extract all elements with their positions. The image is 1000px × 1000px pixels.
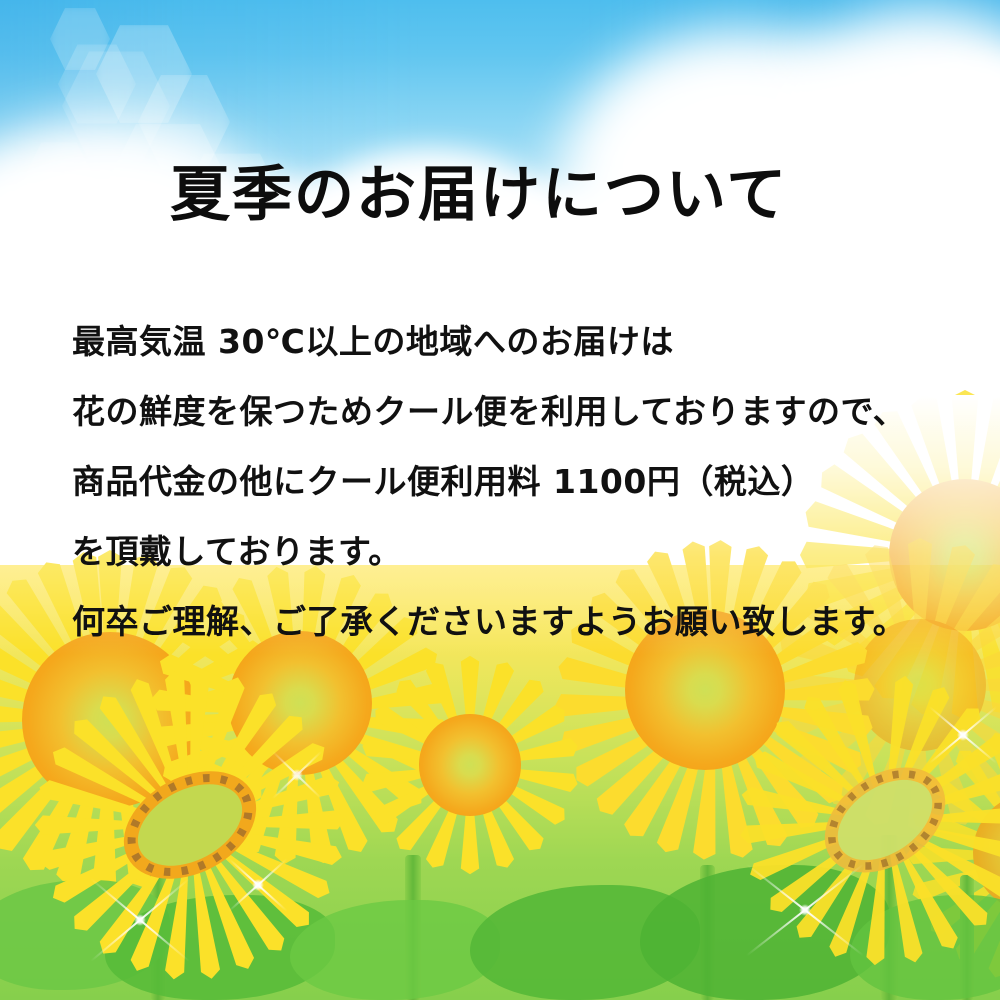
notice-line-2: 花の鮮度を保つためクール便を利用しておりますので、 [72,377,972,447]
notice-line-5: 何卒ご理解、ご了承くださいますようお願い致します。 [72,587,972,657]
notice-line-4: を頂戴しております。 [72,517,972,587]
sunflower [735,670,1000,970]
summer-delivery-notice-banner: 夏季のお届けについて 最高気温 30℃以上の地域へのお届けは 花の鮮度を保つため… [0,0,1000,1000]
sunflower-petals [30,665,350,985]
notice-body: 最高気温 30℃以上の地域へのお届けは 花の鮮度を保つためクール便を利用しており… [72,307,972,657]
sunflower-core [419,714,520,815]
notice-line-3: 商品代金の他にクール便利用料 1100円（税込） [72,447,972,517]
notice-line-1: 最高気温 30℃以上の地域へのお届けは [72,307,972,377]
sunflower [30,665,350,985]
sunflower-petals [735,670,1000,970]
page-title: 夏季のお届けについて [170,146,788,233]
sunflower [355,650,585,880]
